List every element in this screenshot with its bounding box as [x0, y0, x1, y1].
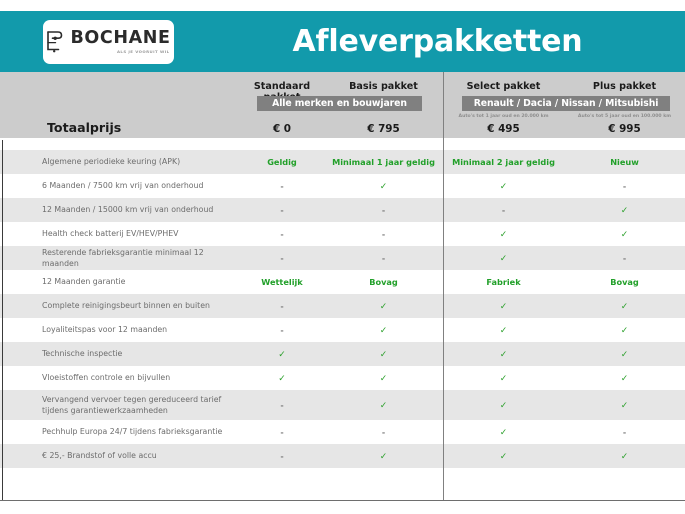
value-text: Bovag: [610, 277, 639, 287]
check-icon: ✓: [380, 401, 388, 411]
check-icon: ✓: [500, 182, 508, 192]
row-value-col3: ✓: [443, 400, 564, 411]
dash-icon: -: [280, 230, 283, 239]
check-icon: ✓: [380, 182, 388, 192]
check-icon: ✓: [621, 401, 629, 411]
check-icon: ✓: [500, 326, 508, 336]
row-label: 12 Maanden garantie: [0, 276, 240, 287]
row-label: € 25,- Brandstof of volle accu: [0, 450, 240, 461]
value-text: Minimaal 1 jaar geldig: [332, 157, 435, 167]
row-label: Technische inspectie: [0, 348, 240, 359]
row-value-col3: ✓: [443, 451, 564, 462]
row-value-col1: -: [240, 253, 324, 263]
row-value-col3: ✓: [443, 325, 564, 336]
dash-icon: -: [280, 428, 283, 437]
row-value-col2: -: [324, 253, 443, 263]
row-value-col2: -: [324, 427, 443, 437]
table-row: Technische inspectie✓✓✓✓: [0, 342, 685, 366]
row-value-col3: ✓: [443, 229, 564, 240]
check-icon: ✓: [380, 374, 388, 384]
row-value-col1: -: [240, 205, 324, 215]
row-value-col1: -: [240, 400, 324, 410]
row-value-col1: ✓: [240, 349, 324, 360]
left-edge-rule: [2, 140, 3, 500]
row-label: Loyaliteitspas voor 12 maanden: [0, 324, 240, 335]
table-row: 12 Maanden / 15000 km vrij van onderhoud…: [0, 198, 685, 222]
check-icon: ✓: [500, 428, 508, 438]
row-value-col2: -: [324, 229, 443, 239]
value-text: Wettelijk: [261, 277, 303, 287]
row-value-col1: -: [240, 301, 324, 311]
table-row: 6 Maanden / 7500 km vrij van onderhoud-✓…: [0, 174, 685, 198]
row-value-col4: ✓: [564, 451, 685, 462]
table-row: Loyaliteitspas voor 12 maanden-✓✓✓: [0, 318, 685, 342]
table-footer-blank: [0, 468, 685, 494]
check-icon: ✓: [621, 452, 629, 462]
row-value-col3: Fabriek: [443, 277, 564, 287]
dash-icon: -: [382, 230, 385, 239]
group-band-alle-merken: Alle merken en bouwjaren: [257, 96, 422, 111]
row-value-col1: -: [240, 181, 324, 191]
check-icon: ✓: [380, 452, 388, 462]
value-text: Fabriek: [486, 277, 520, 287]
value-text: Bovag: [369, 277, 398, 287]
row-value-col1: Geldig: [240, 157, 324, 167]
row-label: Vloeistoffen controle en bijvullen: [0, 372, 240, 383]
logo-tagline: ALS JE VOORUIT WIL: [117, 50, 170, 54]
row-label: Pechhulp Europa 24/7 tijdens fabrieksgar…: [0, 426, 240, 437]
top-margin: [0, 0, 685, 11]
price-select: € 495: [443, 123, 564, 135]
column-header-block: Totaalprijs Standaard pakket Basis pakke…: [0, 72, 685, 138]
dash-icon: -: [280, 182, 283, 191]
group-band-alle-merken-label: Alle merken en bouwjaren: [272, 98, 407, 109]
table-bottom-rule: [0, 500, 685, 501]
row-value-col3: ✓: [443, 301, 564, 312]
row-value-col2: Bovag: [324, 277, 443, 287]
row-value-col2: -: [324, 205, 443, 215]
check-icon: ✓: [621, 350, 629, 360]
page-banner: BOCHANE ALS JE VOORUIT WIL Afleverpakket…: [0, 11, 685, 72]
table-row: Resterende fabrieksgarantie minimaal 12 …: [0, 246, 685, 270]
group-band-merken-renault: Renault / Dacia / Nissan / Mitsubishi: [462, 96, 670, 111]
check-icon: ✓: [621, 302, 629, 312]
row-value-col4: ✓: [564, 373, 685, 384]
logo-wordmark: BOCHANE: [70, 30, 170, 48]
table-row: Pechhulp Europa 24/7 tijdens fabrieksgar…: [0, 420, 685, 444]
column-title-plus: Plus pakket: [564, 81, 685, 92]
table-row: Vloeistoffen controle en bijvullen✓✓✓✓: [0, 366, 685, 390]
row-value-col2: ✓: [324, 373, 443, 384]
price-basis: € 795: [324, 123, 443, 135]
bochane-monogram-icon: [46, 30, 65, 53]
row-value-col4: ✓: [564, 349, 685, 360]
row-label: Health check batterij EV/HEV/PHEV: [0, 228, 240, 239]
row-value-col4: ✓: [564, 301, 685, 312]
column-note-select: Auto's tot 1 jaar oud en 20.000 km: [443, 114, 564, 119]
price-standaard: € 0: [240, 123, 324, 135]
row-value-col3: ✓: [443, 181, 564, 192]
table-row: Vervangend vervoer tegen gereduceerd tar…: [0, 390, 685, 420]
row-value-col4: Bovag: [564, 277, 685, 287]
row-label: 6 Maanden / 7500 km vrij van onderhoud: [0, 180, 240, 191]
row-value-col4: ✓: [564, 205, 685, 216]
check-icon: ✓: [500, 452, 508, 462]
dash-icon: -: [382, 428, 385, 437]
check-icon: ✓: [621, 374, 629, 384]
check-icon: ✓: [380, 326, 388, 336]
column-note-plus: Auto's tot 5 jaar oud en 100.000 km: [564, 114, 685, 119]
value-text: Geldig: [267, 157, 297, 167]
dash-icon: -: [280, 302, 283, 311]
row-value-col2: ✓: [324, 325, 443, 336]
dash-icon: -: [502, 206, 505, 215]
row-label: Complete reinigingsbeurt binnen en buite…: [0, 300, 240, 311]
check-icon: ✓: [278, 350, 286, 360]
dash-icon: -: [280, 206, 283, 215]
totaalprijs-label: Totaalprijs: [47, 120, 121, 135]
row-value-col2: ✓: [324, 301, 443, 312]
check-icon: ✓: [500, 374, 508, 384]
bochane-logo: BOCHANE ALS JE VOORUIT WIL: [43, 20, 174, 64]
row-value-col2: Minimaal 1 jaar geldig: [324, 157, 443, 167]
row-value-col4: ✓: [564, 325, 685, 336]
row-value-col2: ✓: [324, 181, 443, 192]
row-value-col1: Wettelijk: [240, 277, 324, 287]
group-band-merken-renault-label: Renault / Dacia / Nissan / Mitsubishi: [474, 98, 659, 109]
row-value-col1: ✓: [240, 373, 324, 384]
check-icon: ✓: [380, 350, 388, 360]
row-label: Vervangend vervoer tegen gereduceerd tar…: [0, 394, 240, 417]
row-value-col1: -: [240, 451, 324, 461]
row-value-col3: ✓: [443, 427, 564, 438]
dash-icon: -: [280, 254, 283, 263]
check-icon: ✓: [380, 302, 388, 312]
dash-icon: -: [280, 452, 283, 461]
column-title-select: Select pakket: [443, 81, 564, 92]
group-divider-line: [443, 72, 444, 500]
page-title: Afleverpakketten: [190, 24, 685, 59]
check-icon: ✓: [500, 350, 508, 360]
table-row: Health check batterij EV/HEV/PHEV--✓✓: [0, 222, 685, 246]
check-icon: ✓: [621, 206, 629, 216]
table-row: Algemene periodieke keuring (APK)GeldigM…: [0, 150, 685, 174]
table-row: Complete reinigingsbeurt binnen en buite…: [0, 294, 685, 318]
row-value-col2: ✓: [324, 451, 443, 462]
row-label: 12 Maanden / 15000 km vrij van onderhoud: [0, 204, 240, 215]
row-value-col4: ✓: [564, 400, 685, 411]
check-icon: ✓: [500, 302, 508, 312]
dash-icon: -: [623, 428, 626, 437]
dash-icon: -: [382, 254, 385, 263]
row-value-col2: ✓: [324, 400, 443, 411]
comparison-table: Algemene periodieke keuring (APK)GeldigM…: [0, 150, 685, 494]
check-icon: ✓: [500, 254, 508, 264]
dash-icon: -: [382, 206, 385, 215]
row-value-col1: -: [240, 229, 324, 239]
check-icon: ✓: [500, 401, 508, 411]
value-text: Nieuw: [610, 157, 639, 167]
row-value-col4: -: [564, 253, 685, 263]
row-value-col4: -: [564, 427, 685, 437]
check-icon: ✓: [278, 374, 286, 384]
row-value-col1: -: [240, 325, 324, 335]
row-value-col3: ✓: [443, 373, 564, 384]
dash-icon: -: [280, 401, 283, 410]
row-label: Resterende fabrieksgarantie minimaal 12 …: [0, 247, 240, 270]
row-value-col4: Nieuw: [564, 157, 685, 167]
check-icon: ✓: [500, 230, 508, 240]
row-value-col1: -: [240, 427, 324, 437]
check-icon: ✓: [621, 230, 629, 240]
row-value-col3: ✓: [443, 349, 564, 360]
table-row: 12 Maanden garantieWettelijkBovagFabriek…: [0, 270, 685, 294]
check-icon: ✓: [621, 326, 629, 336]
row-label: Algemene periodieke keuring (APK): [0, 156, 240, 167]
dash-icon: -: [623, 254, 626, 263]
column-title-basis: Basis pakket: [324, 81, 443, 92]
header-table-gap: [0, 138, 685, 150]
row-value-col3: -: [443, 205, 564, 215]
dash-icon: -: [623, 182, 626, 191]
dash-icon: -: [280, 326, 283, 335]
row-value-col4: ✓: [564, 229, 685, 240]
row-value-col3: Minimaal 2 jaar geldig: [443, 157, 564, 167]
value-text: Minimaal 2 jaar geldig: [452, 157, 555, 167]
row-value-col4: -: [564, 181, 685, 191]
price-plus: € 995: [564, 123, 685, 135]
row-value-col3: ✓: [443, 253, 564, 264]
row-value-col2: ✓: [324, 349, 443, 360]
table-row: € 25,- Brandstof of volle accu-✓✓✓: [0, 444, 685, 468]
